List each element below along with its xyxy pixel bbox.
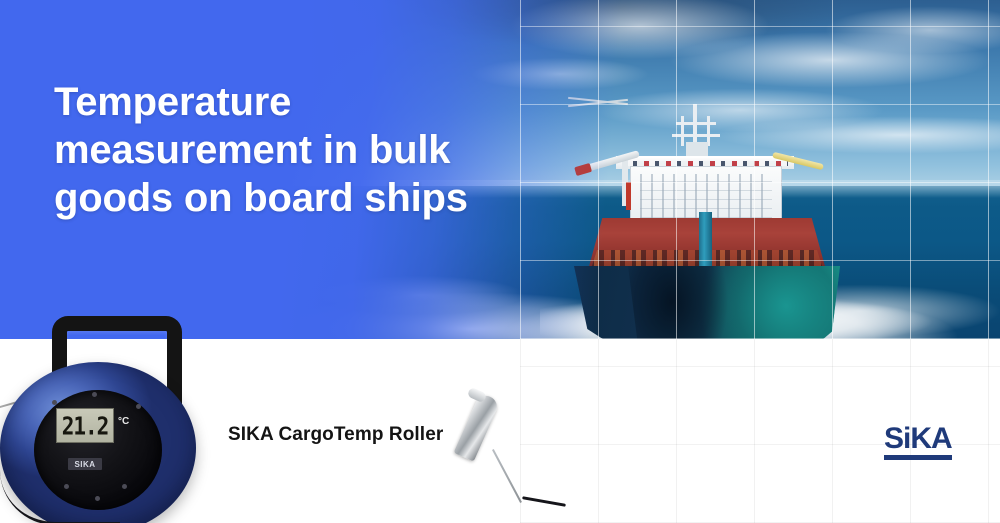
ship-mast-icon	[693, 104, 697, 146]
headline-panel: Temperature measurement in bulk goods on…	[0, 0, 620, 339]
headline-line-1: Temperature	[54, 78, 574, 126]
marketing-banner: Temperature measurement in bulk goods on…	[0, 0, 1000, 523]
device-button[interactable]	[122, 484, 127, 489]
ship-crane-post-red	[626, 182, 631, 210]
temperature-reading: 21.2	[62, 411, 109, 439]
ship-funnel	[699, 212, 712, 274]
sika-logo-text: SiKA	[884, 424, 952, 460]
temperature-probe-sensor	[452, 388, 602, 523]
ship-hull-shadow	[628, 266, 748, 339]
ship-mast-icon	[681, 116, 684, 146]
hero-photo: Temperature measurement in bulk goods on…	[0, 0, 1000, 339]
device-button[interactable]	[92, 392, 97, 397]
product-label: SIKA CargoTemp Roller	[228, 424, 443, 446]
sika-logo: SiKA	[884, 424, 966, 460]
headline-line-2: measurement in bulk	[54, 126, 574, 174]
device-button[interactable]	[136, 404, 141, 409]
device-brand-chip: SIKA	[68, 458, 102, 470]
ship-radar-box	[686, 142, 708, 156]
device-button[interactable]	[52, 400, 57, 405]
ship-mast-crossbar	[672, 134, 720, 137]
headline-line-3: goods on board ships	[54, 174, 574, 222]
ship-mast-crossbar	[676, 122, 716, 125]
temperature-unit: °C	[118, 416, 129, 427]
probe-wire	[492, 449, 522, 503]
probe-cable	[522, 496, 566, 507]
device-lcd-display: 21.2	[56, 408, 114, 443]
page-title: Temperature measurement in bulk goods on…	[54, 78, 574, 222]
